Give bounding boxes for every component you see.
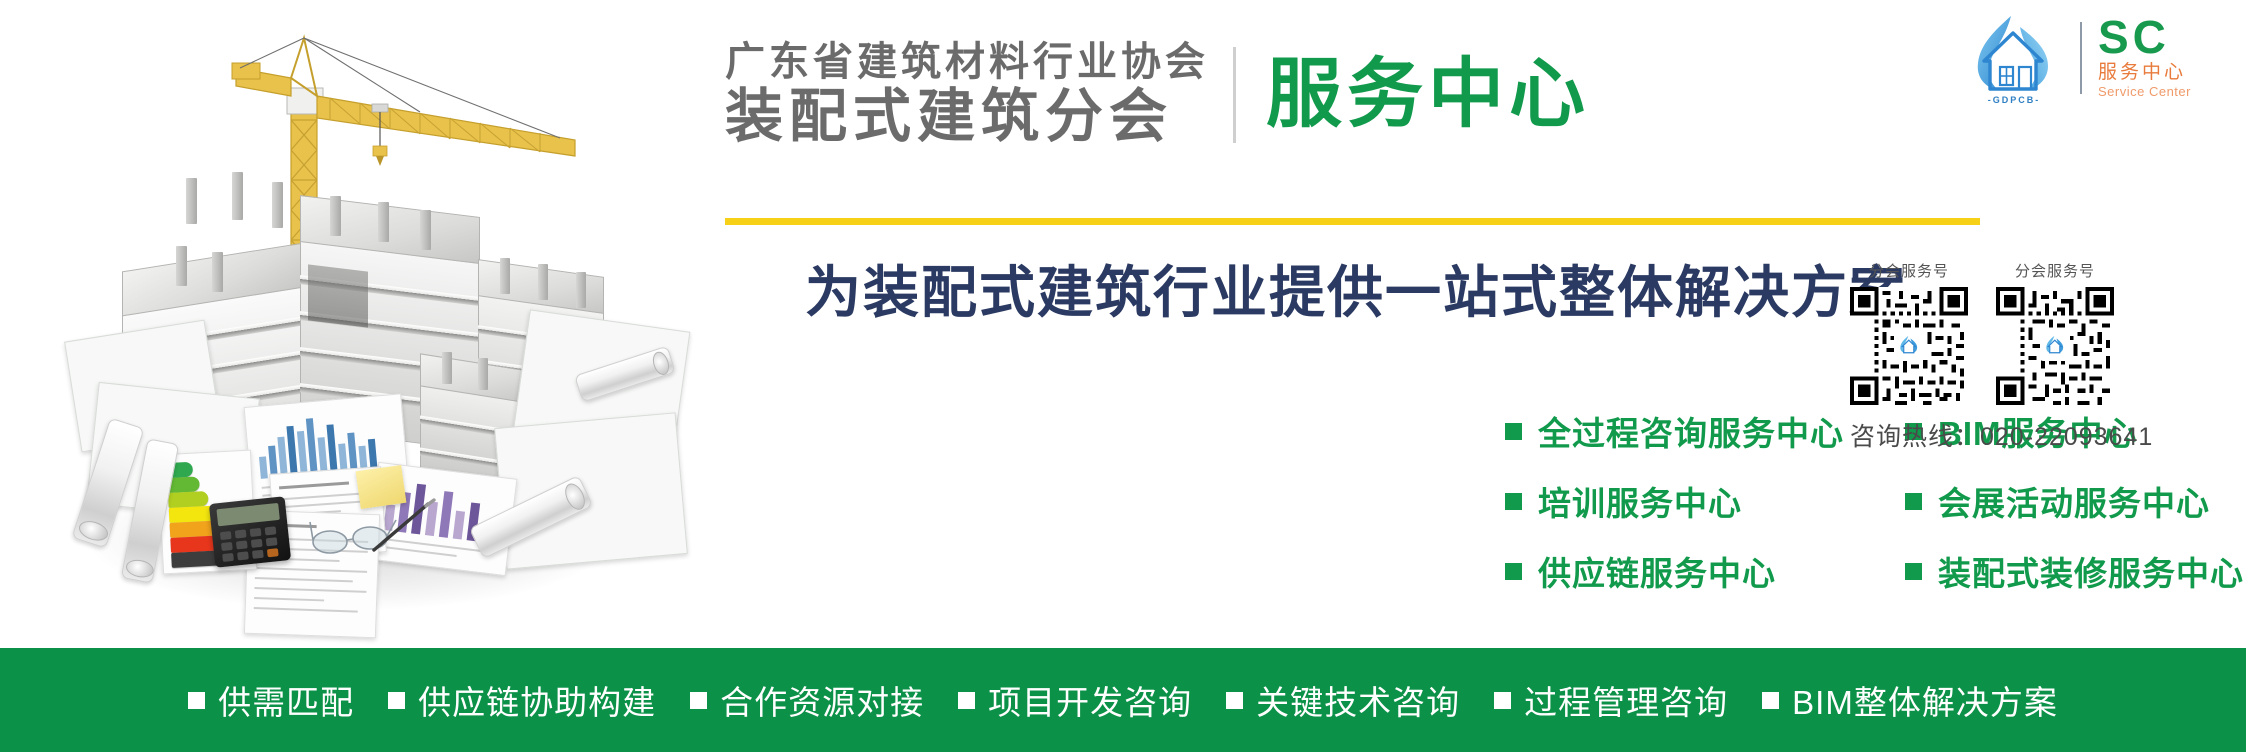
service-center-title: 服务中心: [1266, 57, 1590, 133]
qr-contact-block: 分会服务号: [1850, 260, 2240, 453]
footer-label: 供应链协助构建: [418, 676, 656, 724]
footer-label: 过程管理咨询: [1524, 676, 1728, 724]
service-label: 供应链服务中心: [1538, 547, 1776, 595]
association-name: 广东省建筑材料行业协会: [725, 40, 1209, 85]
footer-item[interactable]: BIM整体解决方案: [1762, 676, 2058, 724]
logo-name-cn: 服务中心: [2098, 62, 2191, 85]
service-item[interactable]: 全过程咨询服务中心: [1505, 406, 1844, 456]
footer-item[interactable]: 过程管理咨询: [1494, 676, 1728, 724]
logo-name-en: Service Center: [2098, 84, 2191, 100]
service-item[interactable]: 会展活动服务中心: [1905, 476, 2244, 526]
logo-divider: [2080, 22, 2082, 94]
banner-content: 广东省建筑材料行业协会 装配式建筑分会 服务中心 为装配式建筑行业提供一站式整体…: [700, 0, 2246, 648]
footer-item[interactable]: 合作资源对接: [690, 676, 924, 724]
footer-item[interactable]: 关键技术咨询: [1226, 676, 1460, 724]
logo-wordmark: SC 服务中心 Service Center: [2098, 16, 2191, 100]
pen-icon: [370, 498, 440, 558]
subtitle-slogan: 为装配式建筑行业提供一站式整体解决方案: [725, 248, 1987, 329]
calculator: [209, 496, 291, 568]
service-item[interactable]: 培训服务中心: [1505, 476, 1844, 526]
service-list-left: 全过程咨询服务中心 培训服务中心 供应链服务中心: [1505, 406, 1844, 616]
square-bullet-icon: [1762, 692, 1779, 709]
blueprint-sheet: [494, 412, 688, 569]
qr-cell: 分会服务号: [1996, 260, 2114, 405]
square-bullet-icon: [1494, 692, 1511, 709]
footer-item[interactable]: 项目开发咨询: [958, 676, 1192, 724]
footer-label: 合作资源对接: [720, 676, 924, 724]
qr-caption: 分会服务号: [1850, 260, 1968, 281]
square-bullet-icon: [1505, 563, 1522, 580]
service-item[interactable]: 供应链服务中心: [1505, 546, 1844, 596]
sc-logo: -GDPCB- SC 服务中心 Service Center: [1964, 10, 2232, 106]
hotline-text: 咨询热线：020-22093641: [1850, 417, 2240, 453]
qr-center-logo-icon: [2040, 331, 2070, 361]
services-footer-bar: 供需匹配 供应链协助构建 合作资源对接 项目开发咨询 关键技术咨询 过程管理咨询…: [0, 648, 2246, 752]
service-label: 全过程咨询服务中心: [1538, 407, 1844, 455]
footer-label: 项目开发咨询: [988, 676, 1192, 724]
branch-name: 装配式建筑分会: [725, 85, 1209, 150]
square-bullet-icon: [1226, 692, 1243, 709]
qr-caption: 分会服务号: [1996, 260, 2114, 281]
footer-item[interactable]: 供应链协助构建: [388, 676, 656, 724]
service-label: 会展活动服务中心: [1938, 477, 2210, 525]
footer-item[interactable]: 供需匹配: [188, 676, 354, 724]
qr-code-2[interactable]: [1996, 287, 2114, 405]
title-divider: [1233, 47, 1236, 143]
footer-label: BIM整体解决方案: [1792, 676, 2058, 724]
footer-label: 关键技术咨询: [1256, 676, 1460, 724]
footer-label: 供需匹配: [218, 676, 354, 724]
square-bullet-icon: [388, 692, 405, 709]
qr-center-logo-icon: [1894, 331, 1924, 361]
gdpcb-flame-house-icon: -GDPCB-: [1964, 11, 2064, 105]
qr-code-1[interactable]: [1850, 287, 1968, 405]
gold-divider: [725, 218, 1980, 225]
square-bullet-icon: [1905, 493, 1922, 510]
square-bullet-icon: [188, 692, 205, 709]
qr-cell: 分会服务号: [1850, 260, 1968, 405]
service-label: 培训服务中心: [1538, 477, 1742, 525]
square-bullet-icon: [1505, 423, 1522, 440]
square-bullet-icon: [1905, 563, 1922, 580]
organization-title: 广东省建筑材料行业协会 装配式建筑分会: [725, 40, 1209, 150]
logo-abbr: SC: [2098, 16, 2191, 60]
service-item[interactable]: 装配式装修服务中心: [1905, 546, 2244, 596]
square-bullet-icon: [690, 692, 707, 709]
calculator-screen: [216, 503, 279, 526]
square-bullet-icon: [1505, 493, 1522, 510]
promotional-banner: 广东省建筑材料行业协会 装配式建筑分会 服务中心 为装配式建筑行业提供一站式整体…: [0, 0, 2246, 752]
gdpcb-caption: -GDPCB-: [1964, 95, 2064, 105]
construction-hero-image: [0, 0, 700, 648]
square-bullet-icon: [958, 692, 975, 709]
service-label: 装配式装修服务中心: [1938, 547, 2244, 595]
heading-row: 广东省建筑材料行业协会 装配式建筑分会 服务中心: [725, 40, 1590, 150]
